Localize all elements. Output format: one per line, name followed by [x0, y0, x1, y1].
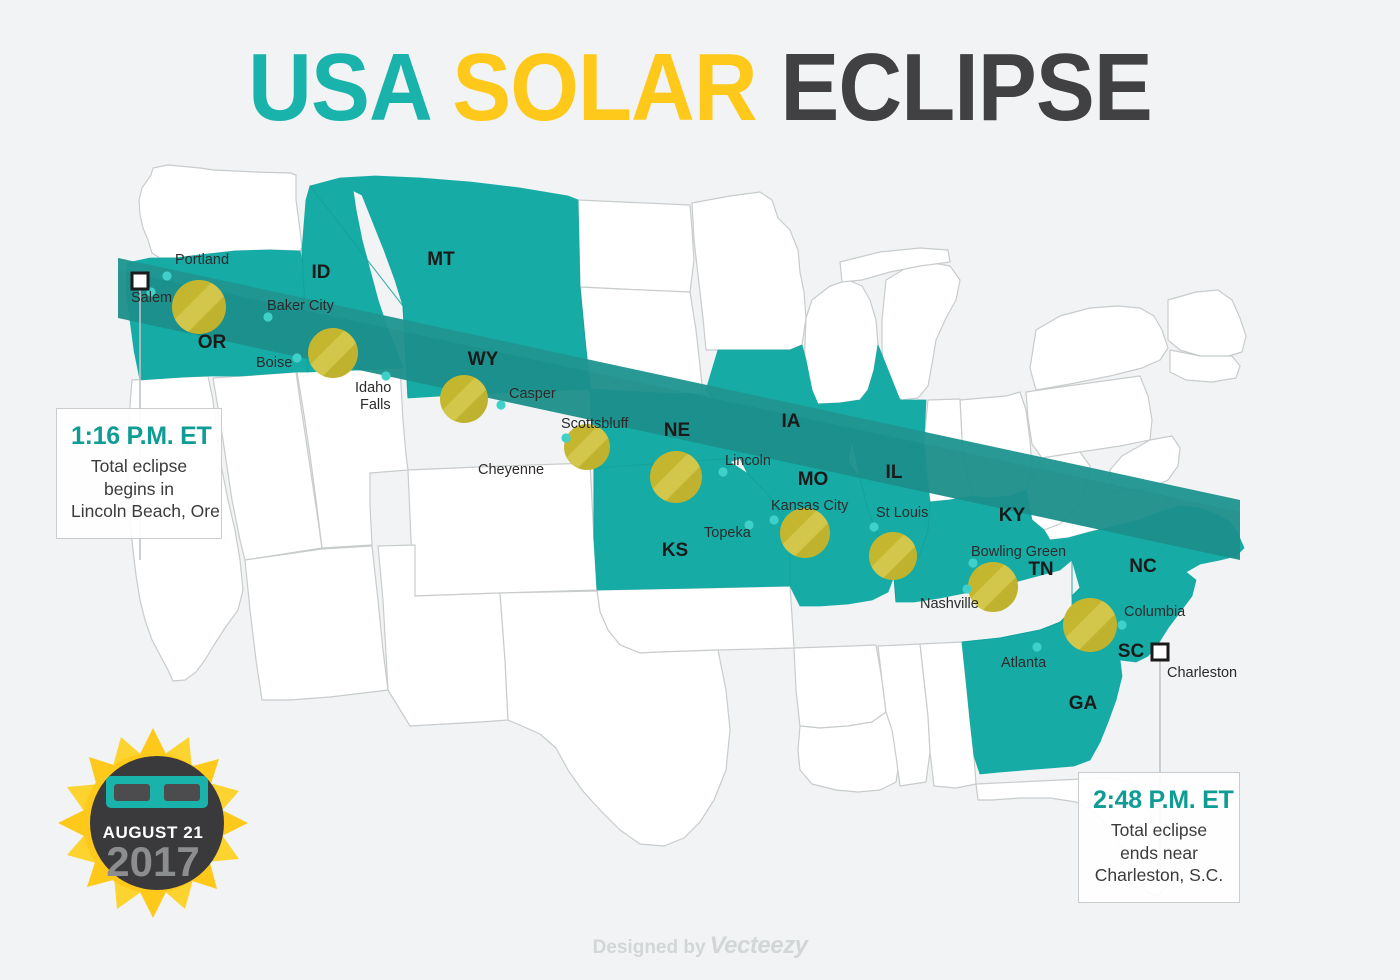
- sun-position-9: [1063, 598, 1117, 652]
- city-label-kansas-city: Kansas City: [771, 498, 849, 514]
- city-label-st-louis: St Louis: [876, 505, 928, 521]
- state-label-nc: NC: [1129, 556, 1157, 577]
- state-wi: [804, 280, 878, 404]
- state-label-or: OR: [198, 332, 227, 353]
- title-part-solar: SOLAR: [452, 34, 780, 141]
- callout-left-line1: Total eclipse: [71, 455, 207, 477]
- state-label-ks: KS: [662, 540, 688, 561]
- page-title: USA SOLAR ECLIPSE: [56, 40, 1344, 136]
- city-label-idaho: Idaho: [355, 380, 391, 396]
- state-label-ne: NE: [664, 420, 690, 441]
- callout-right-line2: ends near: [1093, 842, 1225, 864]
- callout-left-time: 1:16 P.M. ET: [71, 423, 207, 449]
- badge-year: 2017: [58, 841, 248, 883]
- city-dot-atlanta: [1032, 642, 1041, 651]
- state-label-id: ID: [312, 262, 331, 283]
- sun-position-5: [650, 451, 702, 503]
- eclipse-infographic: ORIDMTWYNEIAILMOKSKYTNNCSCGA PortlandSal…: [0, 0, 1400, 980]
- callout-right-time: 2:48 P.M. ET: [1093, 787, 1225, 813]
- city-dot-casper: [496, 400, 505, 409]
- callout-left-line2: begins in: [71, 478, 207, 500]
- title-part-eclipse: ECLIPSE: [780, 34, 1151, 141]
- state-az: [245, 546, 388, 700]
- city-label-atlanta: Atlanta: [1001, 655, 1047, 671]
- state-label-ga: GA: [1069, 693, 1098, 714]
- city-label-columbia: Columbia: [1124, 604, 1186, 620]
- callout-left-line3: Lincoln Beach, Ore: [71, 500, 207, 522]
- state-label-mt: MT: [427, 249, 455, 270]
- city-label-salem: Salem: [131, 290, 172, 306]
- attribution: Designed byVecteezy: [0, 932, 1400, 960]
- city-label-nashville: Nashville: [920, 596, 979, 612]
- callout-right-line3: Charleston, S.C.: [1093, 864, 1225, 886]
- state-wa: [139, 165, 302, 258]
- state-label-wy: WY: [468, 349, 499, 370]
- city-dot-boise: [292, 353, 301, 362]
- city-label-lincoln: Lincoln: [725, 453, 771, 469]
- attribution-prefix: Designed by: [593, 937, 706, 958]
- city-label-scottsbluff: Scottsbluff: [561, 416, 629, 432]
- city-label-casper: Casper: [509, 386, 556, 402]
- state-co: [408, 463, 597, 596]
- sun-position-6: [780, 508, 830, 558]
- city-label-baker-city: Baker City: [267, 298, 335, 314]
- charleston-marker: [1152, 644, 1168, 660]
- city-label-portland: Portland: [175, 252, 229, 268]
- state-ar: [794, 645, 886, 728]
- salem-marker: [132, 273, 148, 289]
- city-label-bowling-green: Bowling Green: [971, 544, 1066, 560]
- sun-position-2: [308, 328, 358, 378]
- state-ok: [597, 586, 794, 653]
- attribution-brand: Vecteezy: [710, 932, 808, 959]
- callout-eclipse-end: 2:48 P.M. ET Total eclipse ends near Cha…: [1078, 772, 1240, 903]
- sun-position-7: [869, 532, 917, 580]
- city-label-topeka: Topeka: [704, 525, 752, 541]
- callout-eclipse-start: 1:16 P.M. ET Total eclipse begins in Lin…: [56, 408, 222, 539]
- city-label-charleston: Charleston: [1167, 665, 1237, 681]
- sun-position-1: [172, 280, 226, 334]
- eclipse-date-badge: AUGUST 21 2017: [58, 728, 248, 918]
- city-dot-st-louis: [869, 522, 878, 531]
- state-label-ia: IA: [782, 411, 801, 432]
- city-label-boise: Boise: [256, 355, 292, 371]
- state-label-il: IL: [886, 462, 903, 483]
- city-label-falls: Falls: [360, 397, 391, 413]
- city-dot-nashville: [962, 584, 971, 593]
- sun-position-3: [440, 375, 488, 423]
- city-dot-portland: [162, 271, 171, 280]
- city-dot-kansas-city: [769, 515, 778, 524]
- city-label-cheyenne: Cheyenne: [478, 462, 544, 478]
- state-nd: [578, 200, 694, 292]
- city-dot-scottsbluff: [561, 433, 570, 442]
- eclipse-glasses-icon: [106, 776, 208, 808]
- callout-right-line1: Total eclipse: [1093, 819, 1225, 841]
- state-label-tn: TN: [1028, 559, 1053, 580]
- state-label-mo: MO: [798, 469, 829, 490]
- title-part-usa: USA: [248, 34, 452, 141]
- state-label-sc: SC: [1118, 641, 1145, 662]
- state-label-ky: KY: [999, 505, 1026, 526]
- city-dot-columbia: [1117, 620, 1126, 629]
